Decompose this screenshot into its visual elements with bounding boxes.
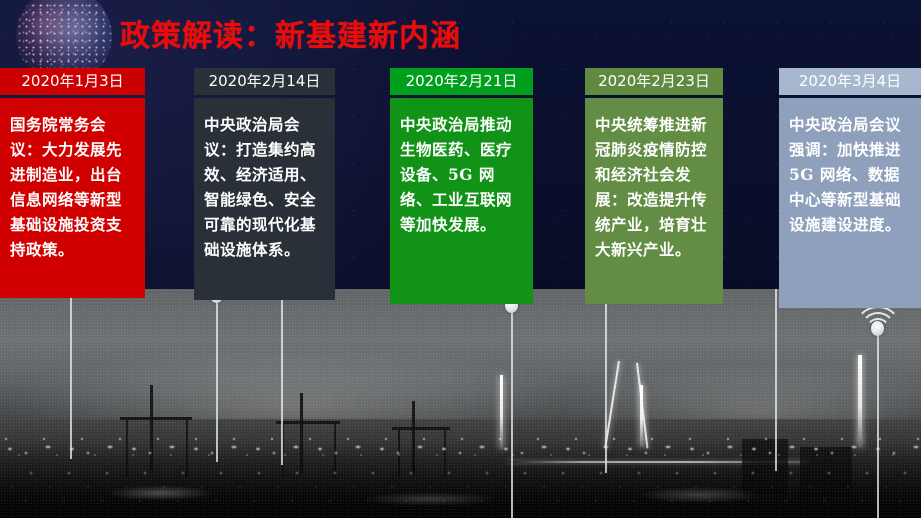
connector-line-4 bbox=[511, 310, 513, 518]
harbour-photo bbox=[0, 289, 921, 518]
timeline-card-2[interactable]: 2020年2月14日 中央政治局会议：打造集约高效、经济适用、智能绿色、安全可靠… bbox=[194, 68, 335, 300]
card-text-5: 中央政治局会议强调：加快推进5G 网络、数据中心等新型基础设施建设进度。 bbox=[779, 98, 921, 308]
signal-waves-icon-7 bbox=[855, 306, 901, 332]
timeline-cards: 2020年1月3日 国务院常务会议：大力发展先进制造业，出台信息网络等新型基础设… bbox=[0, 0, 921, 289]
card-text-1: 国务院常务会议：大力发展先进制造业，出台信息网络等新型基础设施投资支持政策。 bbox=[0, 98, 145, 298]
card-date-2: 2020年2月14日 bbox=[194, 68, 335, 95]
card-text-3: 中央政治局推动生物医药、医疗设备、5G 网络、工业互联网等加快发展。 bbox=[390, 98, 533, 304]
photo-grain bbox=[0, 289, 921, 518]
timeline-card-3[interactable]: 2020年2月21日 中央政治局推动生物医药、医疗设备、5G 网络、工业互联网等… bbox=[390, 68, 533, 304]
connector-line-1 bbox=[70, 289, 72, 459]
timeline-card-4[interactable]: 2020年2月23日 中央统筹推进新冠肺炎疫情防控和经济社会发展：改造提升传统产… bbox=[585, 68, 723, 304]
card-text-4: 中央统筹推进新冠肺炎疫情防控和经济社会发展：改造提升传统产业，培育壮大新兴产业。 bbox=[585, 98, 723, 304]
connector-line-6 bbox=[775, 289, 777, 471]
connector-line-7 bbox=[877, 334, 879, 518]
timeline-card-1[interactable]: 2020年1月3日 国务院常务会议：大力发展先进制造业，出台信息网络等新型基础设… bbox=[0, 68, 145, 298]
card-date-3: 2020年2月21日 bbox=[390, 68, 533, 95]
card-text-2: 中央政治局会议：打造集约高效、经济适用、智能绿色、安全可靠的现代化基础设施体系。 bbox=[194, 98, 335, 300]
connector-line-2 bbox=[216, 300, 218, 462]
timeline-card-5[interactable]: 2020年3月4日 中央政治局会议强调：加快推进5G 网络、数据中心等新型基础设… bbox=[779, 68, 921, 308]
connector-line-3 bbox=[281, 289, 283, 465]
card-date-1: 2020年1月3日 bbox=[0, 68, 145, 95]
presentation-slide: 政策解读：新基建新内涵 bbox=[0, 0, 921, 518]
connector-line-5 bbox=[605, 289, 607, 473]
card-date-4: 2020年2月23日 bbox=[585, 68, 723, 95]
card-date-5: 2020年3月4日 bbox=[779, 68, 921, 95]
